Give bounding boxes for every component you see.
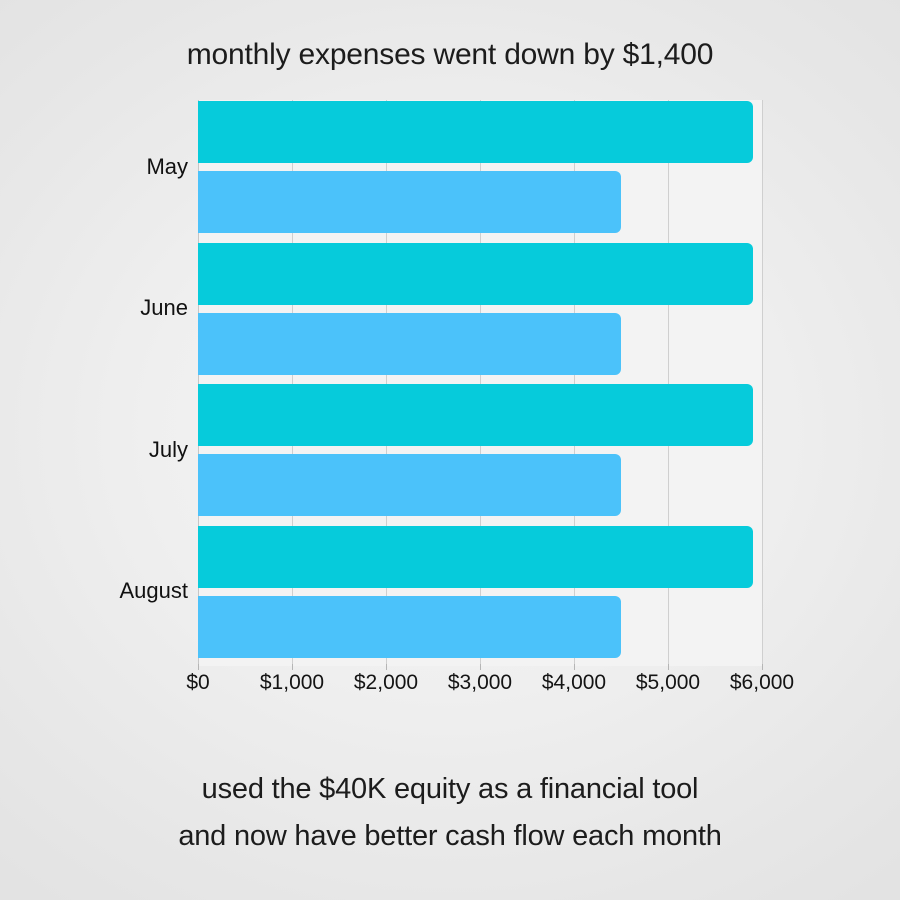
chart-title: monthly expenses went down by $1,400: [0, 38, 900, 72]
x-axis-tick-mark-5000: [668, 664, 669, 670]
x-axis-tick-mark-0: [198, 664, 199, 670]
x-axis-tick-label-2000: $2,000: [354, 671, 418, 695]
x-axis-tick-label-1000: $1,000: [260, 671, 324, 695]
x-axis-tick-mark-4000: [574, 664, 575, 670]
bar-group: May: [198, 100, 762, 232]
bar-group: July: [198, 383, 762, 515]
bar-groups: MayJuneJulyAugust: [198, 100, 762, 666]
x-axis-tick-label-0: $0: [186, 671, 209, 695]
y-axis-label-june: June: [0, 295, 188, 321]
x-axis-tick-mark-2000: [386, 664, 387, 670]
bar-group: June: [198, 242, 762, 374]
bar-july-after: [198, 454, 621, 516]
bar-may-before: [198, 101, 753, 163]
bar-june-before: [198, 243, 753, 305]
bar-august-after: [198, 596, 621, 658]
x-axis-tick-mark-1000: [292, 664, 293, 670]
caption-line-2: and now have better cash flow each month: [0, 813, 900, 860]
chart-poster: monthly expenses went down by $1,400 May…: [0, 0, 900, 900]
x-axis-tick-label-6000: $6,000: [730, 671, 794, 695]
y-axis-label-august: August: [0, 578, 188, 604]
caption-line-1: used the $40K equity as a financial tool: [0, 766, 900, 813]
bar-june-after: [198, 313, 621, 375]
bar-may-after: [198, 171, 621, 233]
bar-july-before: [198, 384, 753, 446]
y-axis-label-july: July: [0, 437, 188, 463]
gridline-6000: [762, 100, 763, 666]
x-axis-tick-label-3000: $3,000: [448, 671, 512, 695]
bar-group: August: [198, 525, 762, 657]
x-axis-tick-label-4000: $4,000: [542, 671, 606, 695]
bar-august-before: [198, 526, 753, 588]
x-axis-tick-mark-3000: [480, 664, 481, 670]
x-axis-tick-label-5000: $5,000: [636, 671, 700, 695]
y-axis-label-may: May: [0, 154, 188, 180]
x-axis-tick-mark-6000: [762, 664, 763, 670]
footer-caption: used the $40K equity as a financial tool…: [0, 766, 900, 860]
x-axis-tick-labels: $0$1,000$2,000$3,000$4,000$5,000$6,000: [198, 671, 762, 705]
chart-plot-area: MayJuneJulyAugust: [198, 100, 762, 666]
